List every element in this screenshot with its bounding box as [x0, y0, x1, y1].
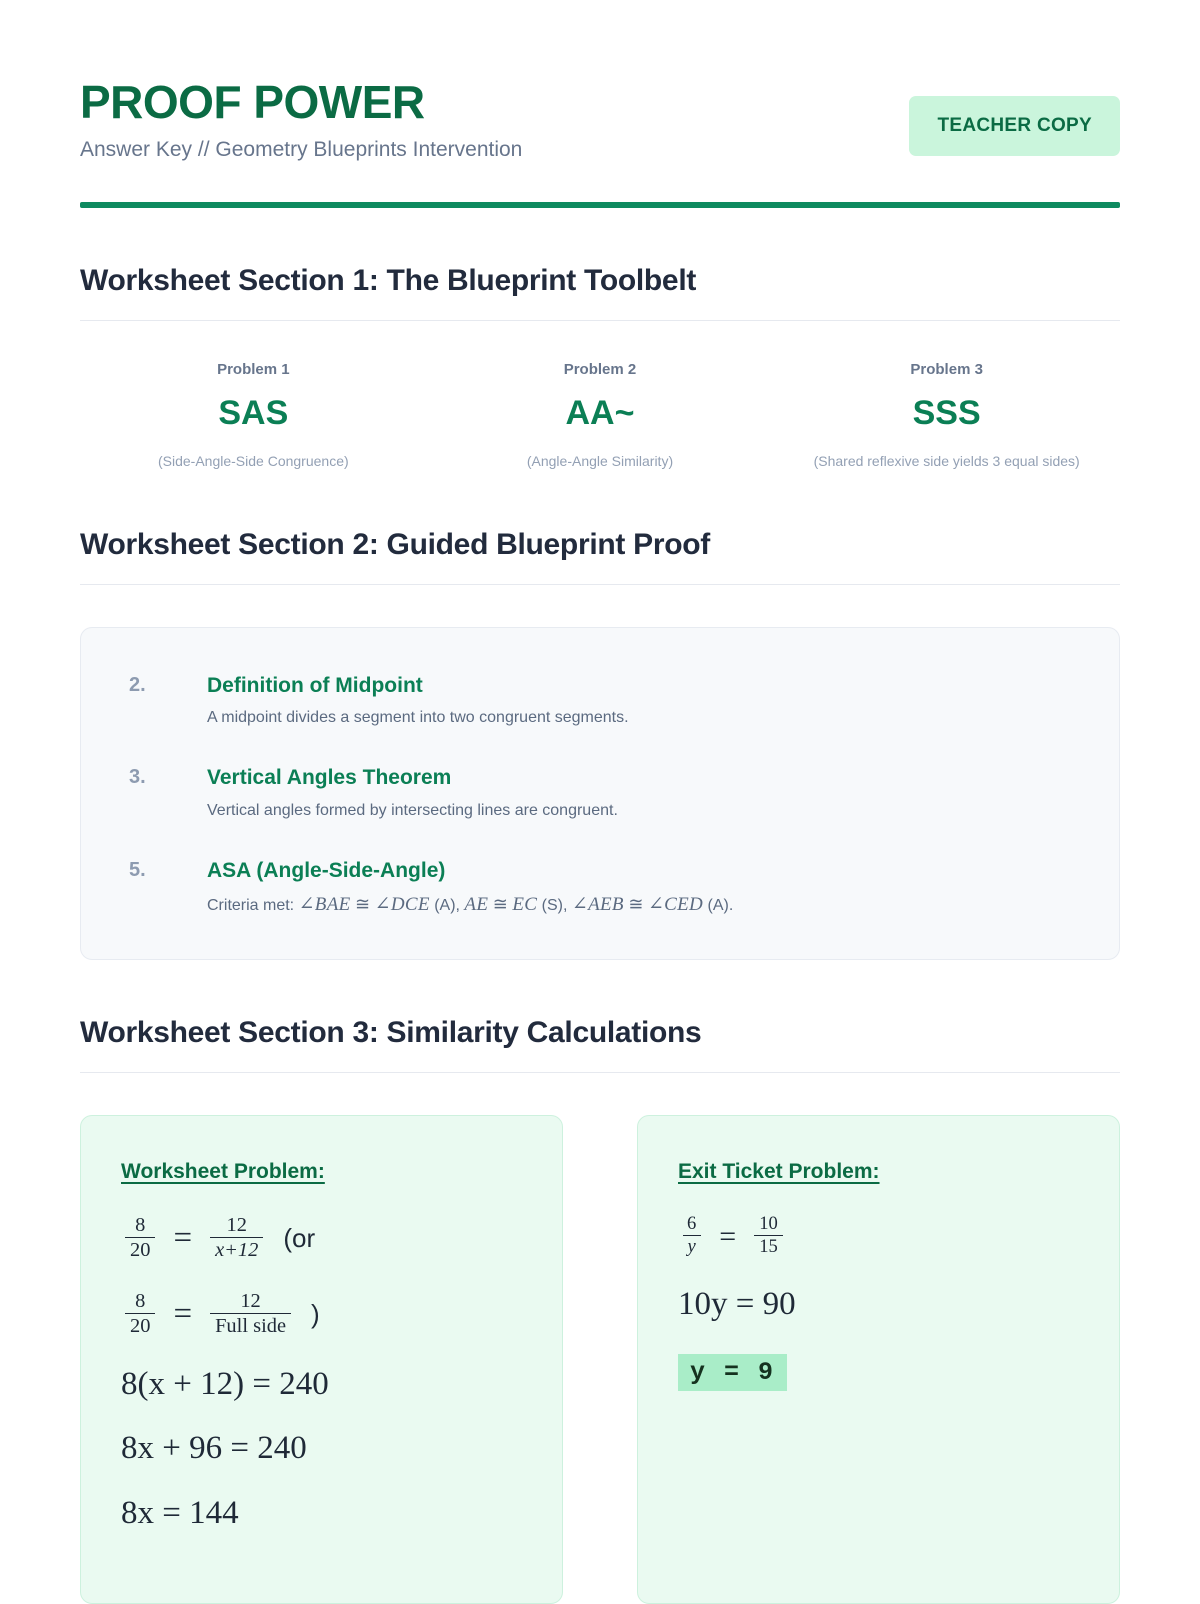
proof-step-number: 5. — [129, 857, 207, 883]
criteria-term: ∠DCE — [375, 894, 430, 915]
section-3-divider — [80, 1072, 1120, 1073]
problem-card: Problem 1 SAS (Side-Angle-Side Congruenc… — [80, 361, 427, 472]
proof-step-body: Vertical Angles Theorem Vertical angles … — [207, 764, 1071, 822]
equation-note: ) — [311, 1300, 320, 1329]
worksheet-problem-card: Worksheet Problem: 8 20 = 12 x+12 (or — [80, 1115, 563, 1604]
problem-label: Problem 3 — [791, 361, 1102, 378]
calc-card-title: Worksheet Problem: — [121, 1160, 522, 1184]
equation-line: 8 20 = 12 x+12 (or — [121, 1214, 522, 1262]
criteria-tag: (S), — [537, 897, 572, 914]
proof-step-row: 2. Definition of Midpoint A midpoint div… — [129, 672, 1071, 730]
worksheet-page: PROOF POWER Answer Key // Geometry Bluep… — [0, 0, 1200, 1604]
problem-answer: SAS — [98, 396, 409, 430]
fraction: 8 20 — [125, 1214, 155, 1262]
proof-step-reason: ASA (Angle-Side-Angle) — [207, 857, 1071, 884]
fraction-denominator: Full side — [210, 1313, 291, 1338]
criteria-term: AE — [464, 894, 488, 915]
equation-line: 8 20 = 12 Full side ) — [121, 1290, 522, 1338]
section-1-divider — [80, 320, 1120, 321]
proof-step-criteria: Criteria met: ∠BAE ≅ ∠DCE (A), AE ≅ EC (… — [207, 891, 1071, 920]
proof-step-body: ASA (Angle-Side-Angle) Criteria met: ∠BA… — [207, 857, 1071, 920]
proof-step-row: 3. Vertical Angles Theorem Vertical angl… — [129, 764, 1071, 822]
section-blueprint-toolbelt: Worksheet Section 1: The Blueprint Toolb… — [80, 264, 1120, 472]
fraction-denominator: 15 — [754, 1235, 783, 1258]
section-similarity-calculations: Worksheet Section 3: Similarity Calculat… — [80, 1016, 1120, 1604]
proof-step-number: 3. — [129, 764, 207, 790]
page-title: PROOF POWER — [80, 78, 522, 126]
equation-note: (or — [283, 1224, 315, 1253]
page-header: PROOF POWER Answer Key // Geometry Bluep… — [80, 70, 1120, 164]
equation-line: 8(x + 12) = 240 — [121, 1366, 522, 1402]
fraction-denominator: 20 — [125, 1237, 155, 1262]
equation-line: 8x + 96 = 240 — [121, 1430, 522, 1466]
fraction-numerator: 6 — [682, 1214, 701, 1235]
proof-step-body: Definition of Midpoint A midpoint divide… — [207, 672, 1071, 730]
criteria-tag: (A), — [430, 897, 465, 914]
criteria-prefix: Criteria met: — [207, 897, 299, 914]
criteria-tag: (A). — [703, 897, 733, 914]
problem-note: (Angle-Angle Similarity) — [445, 450, 756, 472]
fraction-numerator: 12 — [235, 1290, 265, 1313]
problem-card: Problem 2 AA~ (Angle-Angle Similarity) — [427, 361, 774, 472]
teacher-copy-badge: TEACHER COPY — [909, 96, 1120, 156]
equation-line: 10y = 90 — [678, 1286, 1079, 1322]
calc-cards-grid: Worksheet Problem: 8 20 = 12 x+12 (or — [80, 1115, 1120, 1604]
equals-sign: = — [173, 1296, 192, 1332]
criteria-term: ∠BAE — [299, 894, 351, 915]
proof-step-reason: Definition of Midpoint — [207, 672, 1071, 699]
problem-answer: SSS — [791, 396, 1102, 430]
highlighted-answer: y = 9 — [678, 1354, 787, 1391]
proof-step-reason: Vertical Angles Theorem — [207, 764, 1071, 791]
section-3-title: Worksheet Section 3: Similarity Calculat… — [80, 1016, 1120, 1050]
congruent-symbol: ≅ — [351, 894, 375, 914]
fraction-numerator: 12 — [222, 1214, 252, 1237]
criteria-term: ∠CED — [648, 894, 703, 915]
problem-label: Problem 2 — [445, 361, 756, 378]
proof-steps-box: 2. Definition of Midpoint A midpoint div… — [80, 627, 1120, 960]
congruent-symbol: ≅ — [624, 894, 648, 914]
problem-note: (Shared reflexive side yields 3 equal si… — [791, 450, 1102, 472]
toolbelt-grid: Problem 1 SAS (Side-Angle-Side Congruenc… — [80, 361, 1120, 472]
header-titles: PROOF POWER Answer Key // Geometry Bluep… — [80, 70, 522, 164]
fraction-denominator: 20 — [125, 1313, 155, 1338]
fraction-numerator: 8 — [130, 1214, 150, 1237]
fraction: 8 20 — [125, 1290, 155, 1338]
problem-note: (Side-Angle-Side Congruence) — [98, 450, 409, 472]
congruent-symbol: ≅ — [488, 894, 512, 914]
proof-step-number: 2. — [129, 672, 207, 698]
problem-answer: AA~ — [445, 396, 756, 430]
page-subtitle: Answer Key // Geometry Blueprints Interv… — [80, 136, 522, 163]
fraction-denominator: y — [683, 1235, 701, 1258]
equation-line: 6 y = 10 15 — [678, 1214, 1079, 1258]
problem-label: Problem 1 — [98, 361, 409, 378]
fraction: 6 y — [682, 1214, 701, 1258]
section-2-divider — [80, 584, 1120, 585]
section-1-title: Worksheet Section 1: The Blueprint Toolb… — [80, 264, 1120, 298]
fraction-numerator: 10 — [754, 1214, 783, 1235]
equals-sign: = — [719, 1220, 736, 1253]
exit-ticket-problem-card: Exit Ticket Problem: 6 y = 10 15 10y = 9… — [637, 1115, 1120, 1604]
section-guided-proof: Worksheet Section 2: Guided Blueprint Pr… — [80, 528, 1120, 960]
fraction: 12 x+12 — [210, 1214, 263, 1262]
criteria-term: EC — [512, 894, 537, 915]
problem-card: Problem 3 SSS (Shared reflexive side yie… — [773, 361, 1120, 472]
fraction-denominator: x+12 — [210, 1237, 263, 1262]
answer-row: y = 9 — [678, 1350, 1079, 1391]
proof-step-row: 5. ASA (Angle-Side-Angle) Criteria met: … — [129, 857, 1071, 920]
fraction: 10 15 — [754, 1214, 783, 1258]
fraction-numerator: 8 — [130, 1290, 150, 1313]
header-accent-rule — [80, 202, 1120, 208]
proof-step-detail: A midpoint divides a segment into two co… — [207, 706, 1071, 730]
equals-sign: = — [173, 1220, 192, 1256]
equation-line: 8x = 144 — [121, 1495, 522, 1531]
fraction: 12 Full side — [210, 1290, 291, 1338]
calc-card-title: Exit Ticket Problem: — [678, 1160, 1079, 1184]
criteria-term: ∠AEB — [572, 894, 624, 915]
proof-step-detail: Vertical angles formed by intersecting l… — [207, 799, 1071, 823]
section-2-title: Worksheet Section 2: Guided Blueprint Pr… — [80, 528, 1120, 562]
